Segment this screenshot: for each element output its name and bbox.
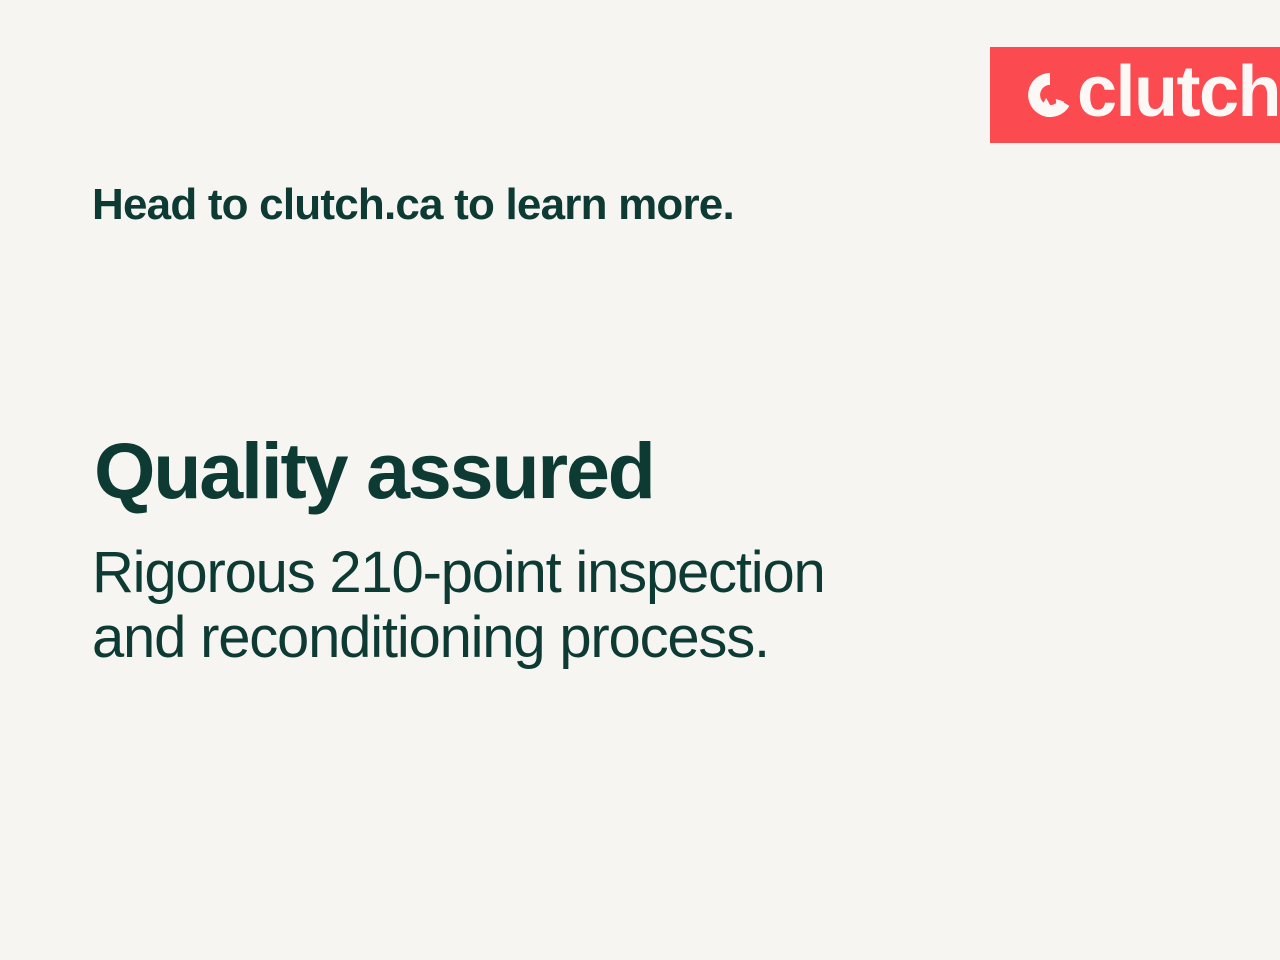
clutch-logo-block[interactable]: clutch xyxy=(990,47,1280,143)
subcopy-line-2: and reconditioning process. xyxy=(92,606,992,671)
subcopy-line-1: Rigorous 210-point inspection xyxy=(92,541,992,606)
subcopy: Rigorous 210-point inspection and recond… xyxy=(92,541,992,671)
clutch-wordmark: clutch xyxy=(1026,47,1280,143)
clutch-ring-icon xyxy=(1026,71,1074,119)
slide-canvas: clutch Head to clutch.ca to learn more. … xyxy=(0,0,1280,960)
clutch-wordmark-text: clutch xyxy=(1077,56,1280,128)
kicker-text: Head to clutch.ca to learn more. xyxy=(92,180,734,231)
page-title: Quality assured xyxy=(94,430,654,513)
